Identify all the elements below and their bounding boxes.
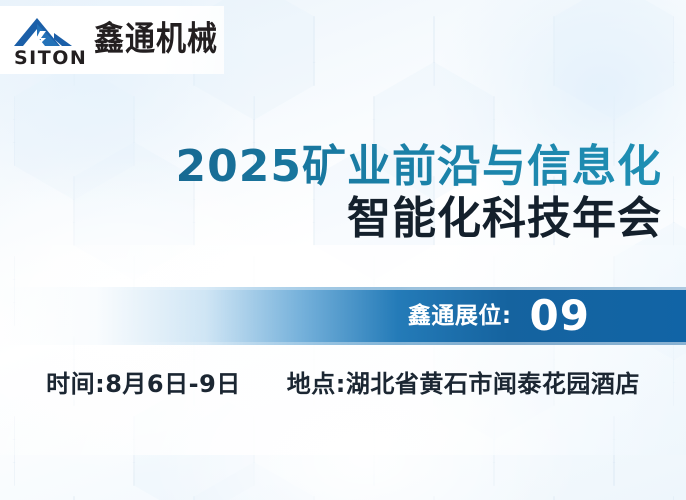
hexagon-pattern-background: [0, 0, 686, 500]
logo-wordmark-en: SITON: [14, 47, 87, 67]
event-poster: SITON 鑫通机械 2025矿业前沿与信息化 智能化科技年会 鑫通展位: 09…: [0, 0, 686, 500]
event-details: 时间:8月6日-9日 地点:湖北省黄石市闻泰花园酒店: [0, 370, 686, 399]
mountain-peak-logo-icon: SITON: [10, 13, 88, 67]
brand-logo: SITON 鑫通机械: [0, 6, 224, 74]
company-name-cn: 鑫通机械: [94, 23, 218, 57]
booth-label: 鑫通展位:: [408, 305, 512, 328]
event-location: 地点:湖北省黄石市闻泰花园酒店: [287, 370, 640, 399]
event-time: 时间:8月6日-9日: [46, 370, 241, 399]
title-line-1: 2025矿业前沿与信息化: [0, 142, 662, 191]
booth-number: 09: [530, 295, 590, 337]
poster-title: 2025矿业前沿与信息化 智能化科技年会: [0, 142, 662, 246]
background-light-sweep: [0, 245, 686, 455]
title-line-2: 智能化科技年会: [0, 193, 662, 246]
background-glow-bottom: [150, 330, 580, 500]
booth-number-banner: 鑫通展位: 09: [0, 287, 686, 345]
